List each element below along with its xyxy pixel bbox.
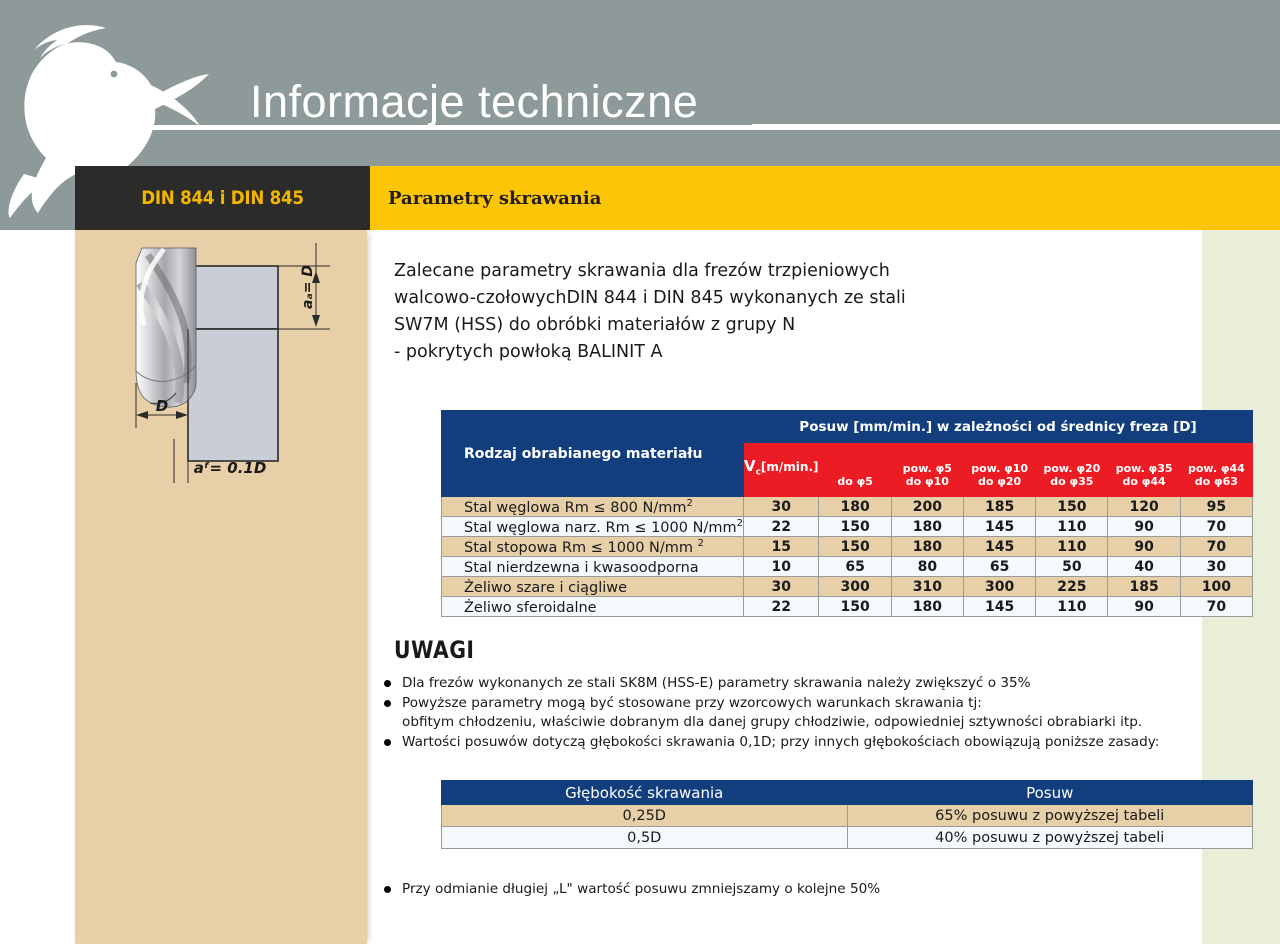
feed-value-0: 65	[819, 557, 891, 577]
end-mill-diagram: aₐ= D D aᶠ= 0.1D	[130, 243, 370, 493]
feed-value-5: 70	[1180, 517, 1252, 537]
table-row: Żeliwo sferoidalne 22 150 180 145 110 90…	[442, 597, 1253, 617]
diameter-header-line1: pow. φ44	[1181, 462, 1252, 475]
vc-value: 22	[743, 597, 819, 617]
material-name: Żeliwo szare i ciągliwe	[442, 577, 744, 597]
diameter-column-header-3: pow. φ20 do φ35	[1036, 443, 1108, 497]
feed-value-1: 180	[891, 517, 963, 537]
axial-depth-label: aₐ= D	[300, 265, 316, 309]
vc-value: 22	[743, 517, 819, 537]
intro-line-4: - pokrytych powłoką BALINIT A	[394, 339, 994, 366]
title-underline	[752, 124, 1280, 129]
page-title: Informacje techniczne	[250, 74, 698, 130]
bullet-icon	[384, 739, 391, 746]
feed-value-1: 200	[891, 497, 963, 517]
note-text: Dla frezów wykonanych ze stali SK8M (HSS…	[402, 675, 1031, 691]
diameter-column-header-5: pow. φ44 do φ63	[1180, 443, 1252, 497]
table-row: Stal stopowa Rm ≤ 1000 N/mm 2 15 150 180…	[442, 537, 1253, 557]
diameter-header-line1: do φ5	[819, 475, 890, 488]
feed-value-4: 90	[1108, 537, 1180, 557]
feed-value-0: 150	[819, 537, 891, 557]
diameter-header-line1: pow. φ20	[1036, 462, 1107, 475]
end-mill-tool	[136, 248, 196, 407]
material-text: Żeliwo sferoidalne	[464, 599, 597, 615]
workpiece-blocks	[188, 266, 278, 461]
feed-value-3: 110	[1036, 537, 1108, 557]
material-sup: 2	[686, 498, 692, 509]
feed-value-3: 110	[1036, 517, 1108, 537]
material-sup: 2	[737, 518, 743, 529]
feed-rule: 65% posuwu z powyższej tabeli	[847, 805, 1253, 827]
depth-feed-table: Głębokość skrawania Posuw 0,25D 65% posu…	[441, 780, 1253, 849]
note-text: Wartości posuwów dotyczą głębokości skra…	[402, 734, 1159, 750]
logo-panel	[0, 0, 75, 230]
list-item: Wartości posuwów dotyczą głębokości skra…	[378, 733, 1258, 752]
depth-table-header-row: Głębokość skrawania Posuw	[442, 781, 1253, 805]
material-text: Stal nierdzewna i kwasoodporna	[464, 559, 699, 575]
bullet-icon	[384, 680, 391, 687]
technical-info-page: Informacje techniczne DIN 844 i DIN 845 …	[0, 0, 1280, 944]
feed-value-3: 110	[1036, 597, 1108, 617]
diameter-header-line2: do φ35	[1036, 475, 1107, 488]
feed-value-3: 150	[1036, 497, 1108, 517]
feed-value-2: 300	[963, 577, 1035, 597]
depth-value: 0,5D	[442, 827, 848, 849]
feed-value-2: 185	[963, 497, 1035, 517]
page-banner: Informacje techniczne	[0, 0, 1280, 166]
diameter-header-line2: do φ63	[1181, 475, 1252, 488]
feed-value-5: 70	[1180, 537, 1252, 557]
notes-list: Dla frezów wykonanych ze stali SK8M (HSS…	[378, 674, 1258, 753]
material-name: Stal węglowa narz. Rm ≤ 1000 N/mm2	[442, 517, 744, 537]
feed-value-1: 180	[891, 537, 963, 557]
list-item: Powyższe parametry mogą być stosowane pr…	[378, 694, 1258, 732]
feed-group-header: Posuw [mm/min.] w zależności od średnicy…	[743, 411, 1252, 443]
feed-value-5: 30	[1180, 557, 1252, 577]
depth-column-header: Głębokość skrawania	[442, 781, 848, 805]
feed-rule: 40% posuwu z powyższej tabeli	[847, 827, 1253, 849]
vc-value: 15	[743, 537, 819, 557]
vc-value: 30	[743, 497, 819, 517]
material-text: Stal węglowa narz. Rm ≤ 1000 N/mm	[464, 519, 737, 535]
material-name: Stal nierdzewna i kwasoodporna	[442, 557, 744, 577]
material-name: Stal węglowa Rm ≤ 800 N/mm2	[442, 497, 744, 517]
feed-value-0: 300	[819, 577, 891, 597]
material-text: Stal węglowa Rm ≤ 800 N/mm	[464, 499, 686, 515]
list-item-last: Przy odmianie długiej „L" wartość posuwu…	[378, 880, 1078, 899]
intro-line-2: walcowo-czołowychDIN 844 i DIN 845 wykon…	[394, 285, 994, 312]
diameter-column-header-2: pow. φ10 do φ20	[963, 443, 1035, 497]
note-text: Przy odmianie długiej „L" wartość posuwu…	[402, 881, 880, 897]
feed-value-5: 95	[1180, 497, 1252, 517]
standard-label-strip: DIN 844 i DIN 845	[75, 166, 370, 230]
feed-value-2: 145	[963, 597, 1035, 617]
intro-line-3: SW7M (HSS) do obróbki materiałów z grupy…	[394, 312, 994, 339]
vc-value: 10	[743, 557, 819, 577]
feed-value-5: 100	[1180, 577, 1252, 597]
diameter-header-line1: pow. φ10	[964, 462, 1035, 475]
table-row: Stal węglowa narz. Rm ≤ 1000 N/mm2 22 15…	[442, 517, 1253, 537]
diameter-header-line1: pow. φ5	[892, 462, 963, 475]
material-name: Stal stopowa Rm ≤ 1000 N/mm 2	[442, 537, 744, 557]
table-row: Żeliwo szare i ciągliwe 30 300 310 300 2…	[442, 577, 1253, 597]
feed-value-3: 225	[1036, 577, 1108, 597]
diameter-header-line1: pow. φ35	[1108, 462, 1179, 475]
feed-value-1: 180	[891, 597, 963, 617]
feed-value-4: 90	[1108, 597, 1180, 617]
feed-value-1: 310	[891, 577, 963, 597]
depth-value: 0,25D	[442, 805, 848, 827]
material-text: Stal stopowa Rm ≤ 1000 N/mm	[464, 539, 698, 555]
feed-value-2: 145	[963, 517, 1035, 537]
radial-depth-label: aᶠ= 0.1D	[194, 459, 267, 477]
diameter-header-line2: do φ44	[1108, 475, 1179, 488]
standard-label: DIN 844 i DIN 845	[93, 166, 353, 230]
table-row: 0,5D 40% posuwu z powyższej tabeli	[442, 827, 1253, 849]
vc-unit: [m/min.]	[761, 460, 819, 474]
cutting-parameters-table: Rodzaj obrabianego materiału Posuw [mm/m…	[441, 410, 1253, 617]
feed-value-4: 90	[1108, 517, 1180, 537]
feed-value-0: 150	[819, 597, 891, 617]
diameter-column-header-0: do φ5	[819, 443, 891, 497]
vc-symbol: V	[744, 457, 756, 475]
material-column-header: Rodzaj obrabianego materiału	[442, 411, 744, 497]
bullet-icon	[384, 886, 391, 893]
intro-line-1: Zalecane parametry skrawania dla frezów …	[394, 258, 994, 285]
table-row: Stal nierdzewna i kwasoodporna 10 65 80 …	[442, 557, 1253, 577]
feed-value-2: 145	[963, 537, 1035, 557]
table-row: Stal węglowa Rm ≤ 800 N/mm2 30 180 200 1…	[442, 497, 1253, 517]
note-text: Powyższe parametry mogą być stosowane pr…	[402, 695, 982, 711]
diameter-label: D	[156, 397, 168, 415]
feed-value-3: 50	[1036, 557, 1108, 577]
radial-depth-dimension	[174, 439, 188, 483]
feed-value-2: 65	[963, 557, 1035, 577]
list-item: Dla frezów wykonanych ze stali SK8M (HSS…	[378, 674, 1258, 693]
note-subtext: obfitym chłodzeniu, właściwie dobranym d…	[402, 713, 1258, 732]
feed-value-0: 150	[819, 517, 891, 537]
intro-paragraph: Zalecane parametry skrawania dla frezów …	[394, 258, 994, 366]
feed-value-1: 80	[891, 557, 963, 577]
bullet-icon	[384, 700, 391, 707]
vc-column-header: Vc[m/min.]	[743, 443, 819, 497]
feed-value-0: 180	[819, 497, 891, 517]
section-label-strip: Parametry skrawania	[370, 166, 1280, 230]
section-label: Parametry skrawania	[388, 166, 601, 230]
feed-value-4: 185	[1108, 577, 1180, 597]
feed-value-5: 70	[1180, 597, 1252, 617]
diameter-column-header-4: pow. φ35 do φ44	[1108, 443, 1180, 497]
notes-heading: UWAGI	[394, 636, 474, 664]
vc-value: 30	[743, 577, 819, 597]
material-sup: 2	[698, 538, 704, 549]
feed-value-4: 40	[1108, 557, 1180, 577]
diameter-header-line2: do φ10	[892, 475, 963, 488]
table-row: 0,25D 65% posuwu z powyższej tabeli	[442, 805, 1253, 827]
table-header-group-row: Rodzaj obrabianego materiału Posuw [mm/m…	[442, 411, 1253, 443]
material-text: Żeliwo szare i ciągliwe	[464, 579, 627, 595]
diameter-header-line2: do φ20	[964, 475, 1035, 488]
diameter-column-header-1: pow. φ5 do φ10	[891, 443, 963, 497]
material-name: Żeliwo sferoidalne	[442, 597, 744, 617]
feed-column-header: Posuw	[847, 781, 1253, 805]
feed-value-4: 120	[1108, 497, 1180, 517]
